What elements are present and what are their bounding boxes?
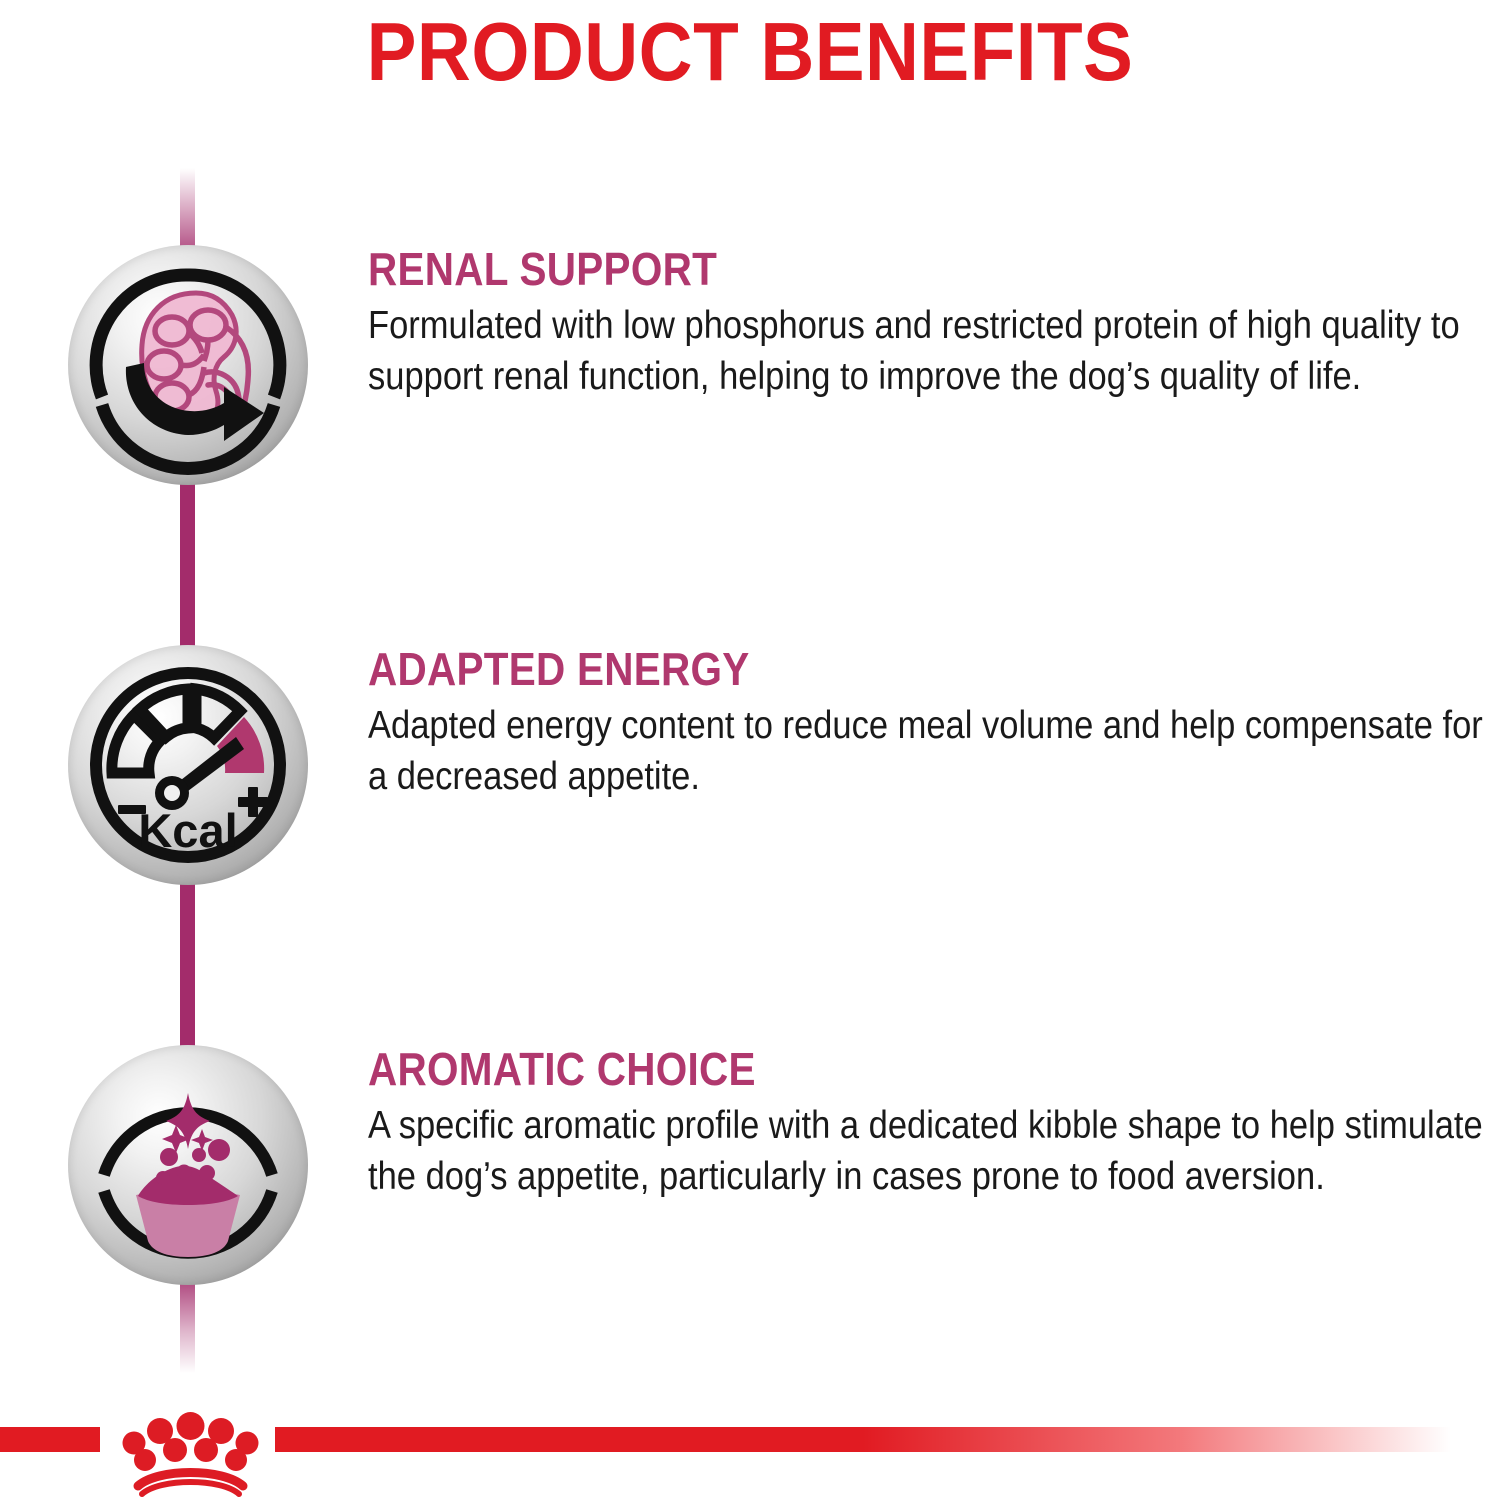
- benefit-item-adapted-energy: Kcal ADAPTED ENERGY Adapted energy conte…: [0, 645, 1500, 885]
- page-title: PRODUCT BENEFITS: [75, 8, 1425, 95]
- benefit-item-renal-support: RENAL SUPPORT Formulated with low phosph…: [0, 245, 1500, 485]
- benefit-title-aromatic-choice: AROMATIC CHOICE: [368, 1045, 1367, 1093]
- footer-bar-right: [275, 1427, 1500, 1452]
- benefit-title-adapted-energy: ADAPTED ENERGY: [368, 645, 1367, 693]
- benefit-item-aromatic-choice: AROMATIC CHOICE A specific aromatic prof…: [0, 1045, 1500, 1285]
- benefit-body-adapted-energy: Adapted energy content to reduce meal vo…: [368, 701, 1500, 802]
- benefit-body-aromatic-choice: A specific aromatic profile with a dedic…: [368, 1101, 1500, 1202]
- benefit-copy: RENAL SUPPORT Formulated with low phosph…: [368, 245, 1500, 403]
- footer: [0, 1410, 1500, 1500]
- kcal-label: Kcal: [138, 804, 237, 857]
- kcal-gauge-icon: Kcal: [68, 645, 308, 885]
- timeline-rail-segment-2: [180, 868, 195, 1068]
- royal-canin-crown-logo: [108, 1410, 273, 1500]
- benefit-copy: AROMATIC CHOICE A specific aromatic prof…: [368, 1045, 1500, 1203]
- timeline-rail-segment-1: [180, 468, 195, 668]
- benefit-body-renal-support: Formulated with low phosphorus and restr…: [368, 301, 1500, 402]
- benefit-copy: ADAPTED ENERGY Adapted energy content to…: [368, 645, 1500, 803]
- aroma-bowl-icon: [68, 1045, 308, 1285]
- kidney-renal-icon: [68, 245, 308, 485]
- benefit-title-renal-support: RENAL SUPPORT: [368, 245, 1367, 293]
- footer-bar-left: [0, 1427, 100, 1452]
